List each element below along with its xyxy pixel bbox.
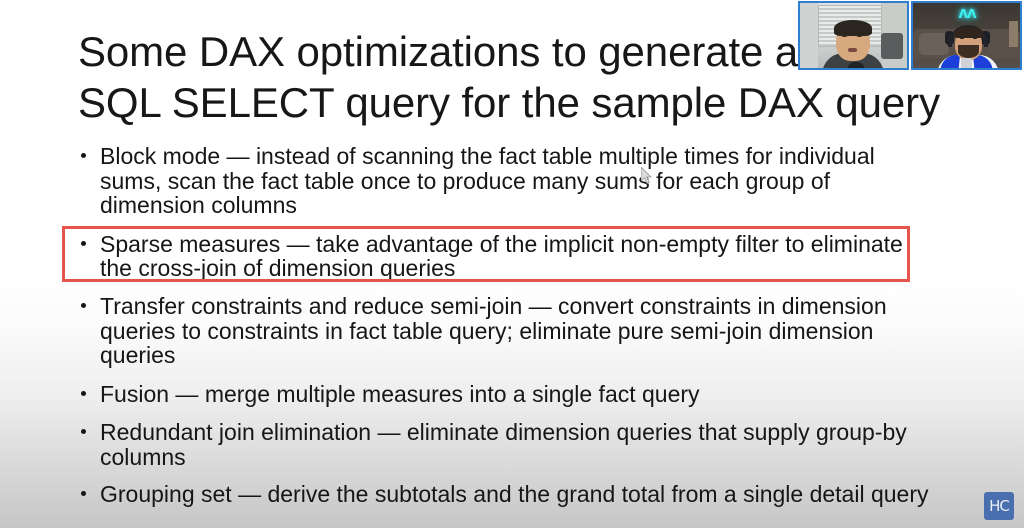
bullet-marker-icon bbox=[81, 153, 86, 158]
webcam-tile-participant-2[interactable]: ʌʌ bbox=[911, 1, 1022, 70]
microphone bbox=[848, 62, 864, 70]
eye-left bbox=[842, 35, 847, 37]
bullet-item: Transfer constraints and reduce semi-joi… bbox=[78, 294, 936, 368]
bullet-item: Redundant join elimination — eliminate d… bbox=[78, 420, 936, 469]
bullet-marker-icon bbox=[81, 303, 86, 308]
bullet-text: Sparse measures — take advantage of the … bbox=[100, 232, 936, 281]
webcam-tile-participant-1[interactable] bbox=[798, 1, 909, 70]
hair bbox=[954, 27, 983, 38]
eye-left bbox=[960, 37, 964, 39]
bullet-text: Block mode — instead of scanning the fac… bbox=[100, 144, 936, 218]
bullet-marker-icon bbox=[81, 491, 86, 496]
bullet-marker-icon bbox=[81, 241, 86, 246]
neon-sign-icon: ʌʌ bbox=[939, 4, 995, 21]
eye-right bbox=[857, 35, 862, 37]
eye-right bbox=[973, 37, 977, 39]
bullet-text: Redundant join elimination — eliminate d… bbox=[100, 420, 936, 469]
lamp bbox=[1009, 21, 1018, 47]
presentation-slide: Some DAX optimizations to generate a SQL… bbox=[0, 0, 1024, 528]
bullet-item: Fusion — merge multiple measures into a … bbox=[78, 382, 936, 407]
slide-bullet-list: Block mode — instead of scanning the fac… bbox=[78, 144, 936, 506]
bullet-text: Transfer constraints and reduce semi-joi… bbox=[100, 294, 936, 368]
webcam-strip: ʌʌ bbox=[798, 1, 1022, 70]
watermark-logo: HC bbox=[984, 492, 1014, 520]
logo-text: HC bbox=[989, 497, 1009, 515]
microphone bbox=[961, 58, 972, 70]
bullet-item-highlighted: Sparse measures — take advantage of the … bbox=[78, 232, 936, 281]
bullet-marker-icon bbox=[81, 429, 86, 434]
wall-left bbox=[800, 3, 818, 68]
bullet-item: Grouping set — derive the subtotals and … bbox=[78, 482, 936, 507]
bullet-item: Block mode — instead of scanning the fac… bbox=[78, 144, 936, 218]
bullet-marker-icon bbox=[81, 391, 86, 396]
bullet-text: Fusion — merge multiple measures into a … bbox=[100, 382, 936, 407]
beard bbox=[958, 45, 979, 58]
mouth bbox=[848, 48, 857, 52]
hair bbox=[834, 20, 872, 36]
chair bbox=[881, 33, 903, 59]
bullet-text: Grouping set — derive the subtotals and … bbox=[100, 482, 936, 507]
